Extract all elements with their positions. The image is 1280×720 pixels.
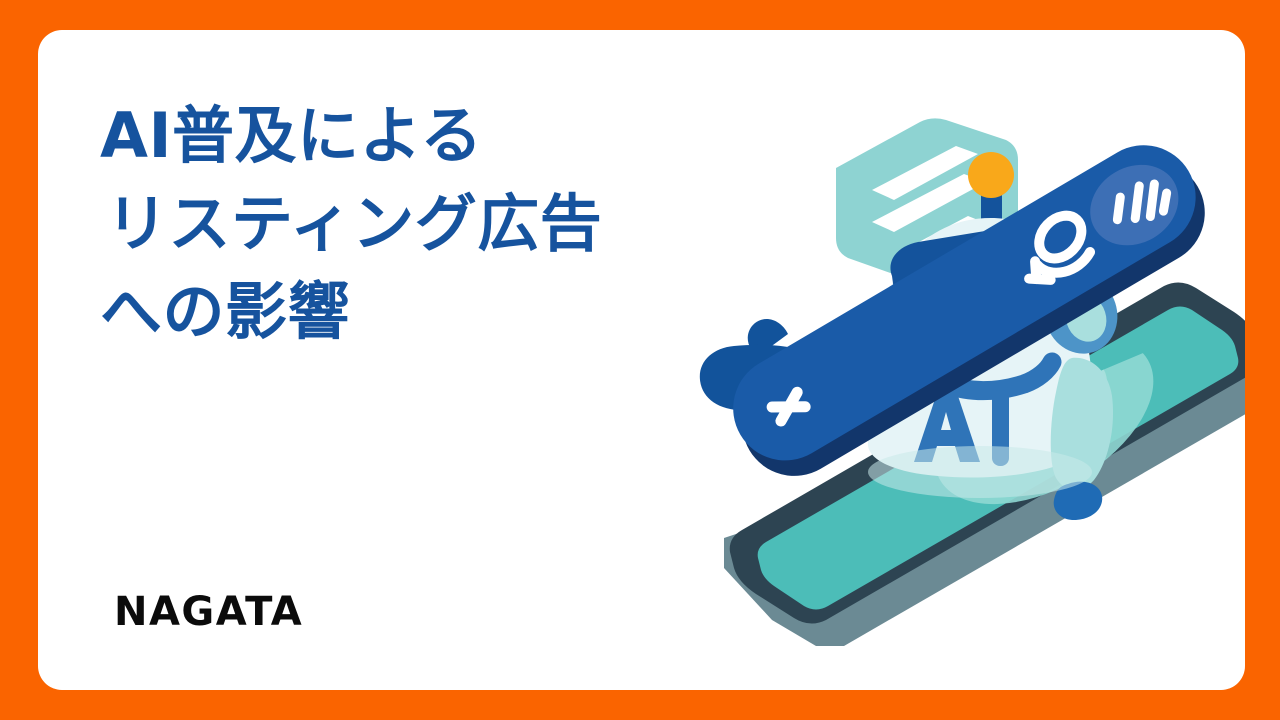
title-line-2: リスティング広告 <box>100 180 860 268</box>
slide-root: AI普及による リスティング広告 への影響 <box>0 0 1280 720</box>
brand-logo: NAGATA <box>114 592 303 632</box>
brand-name: NAGATA <box>114 592 303 632</box>
title-line-3: への影響 <box>100 268 860 356</box>
title-line-1: AI普及による <box>100 92 860 180</box>
page-title: AI普及による リスティング広告 への影響 <box>100 92 860 356</box>
content-card: AI普及による リスティング広告 への影響 <box>38 30 1245 690</box>
